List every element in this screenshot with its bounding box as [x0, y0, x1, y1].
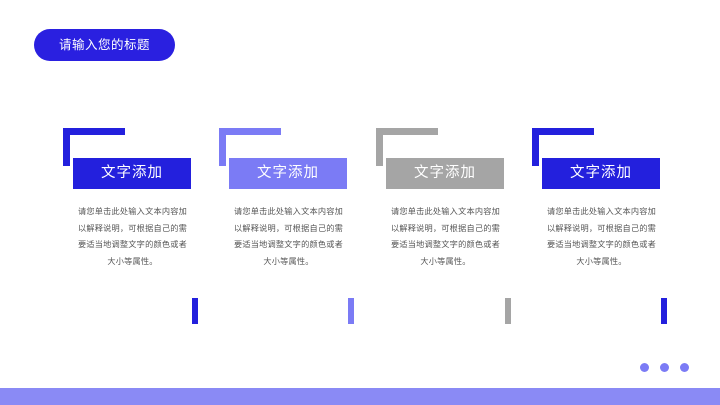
dot-2 [660, 363, 669, 372]
column-heading-label: 文字添加 [570, 166, 632, 181]
column-body-text: 请您单击此处输入文本内容加以解释说明，可根据自己的需要适当地调整文字的颜色或者大… [543, 204, 660, 270]
footer-band [0, 388, 720, 405]
column-tick-mark [505, 298, 511, 324]
column-heading-label: 文字添加 [414, 166, 476, 181]
column-heading-bar[interactable]: 文字添加 [542, 158, 660, 189]
column-heading-label: 文字添加 [257, 166, 319, 181]
column-body-text: 请您单击此处输入文本内容加以解释说明，可根据自己的需要适当地调整文字的颜色或者大… [230, 204, 347, 270]
column-tick-mark [348, 298, 354, 324]
bracket-horizontal-stroke [532, 128, 594, 135]
bracket-horizontal-stroke [219, 128, 281, 135]
column-heading-bar[interactable]: 文字添加 [386, 158, 504, 189]
column-tick-mark [661, 298, 667, 324]
dot-3 [680, 363, 689, 372]
slide-title-label: 请输入您的标题 [59, 39, 150, 52]
column-body-text: 请您单击此处输入文本内容加以解释说明，可根据自己的需要适当地调整文字的颜色或者大… [74, 204, 191, 270]
column-heading-label: 文字添加 [101, 166, 163, 181]
presentation-slide: 请输入您的标题 文字添加 请您单击此处输入文本内容加以解释说明，可根据自己的需要… [0, 0, 720, 405]
column-tick-mark [192, 298, 198, 324]
column-heading-bar[interactable]: 文字添加 [73, 158, 191, 189]
bracket-horizontal-stroke [376, 128, 438, 135]
decorative-dots [640, 363, 698, 373]
dot-1 [640, 363, 649, 372]
column-body-text: 请您单击此处输入文本内容加以解释说明，可根据自己的需要适当地调整文字的颜色或者大… [387, 204, 504, 270]
slide-title-pill[interactable]: 请输入您的标题 [34, 29, 175, 61]
bracket-horizontal-stroke [63, 128, 125, 135]
column-heading-bar[interactable]: 文字添加 [229, 158, 347, 189]
